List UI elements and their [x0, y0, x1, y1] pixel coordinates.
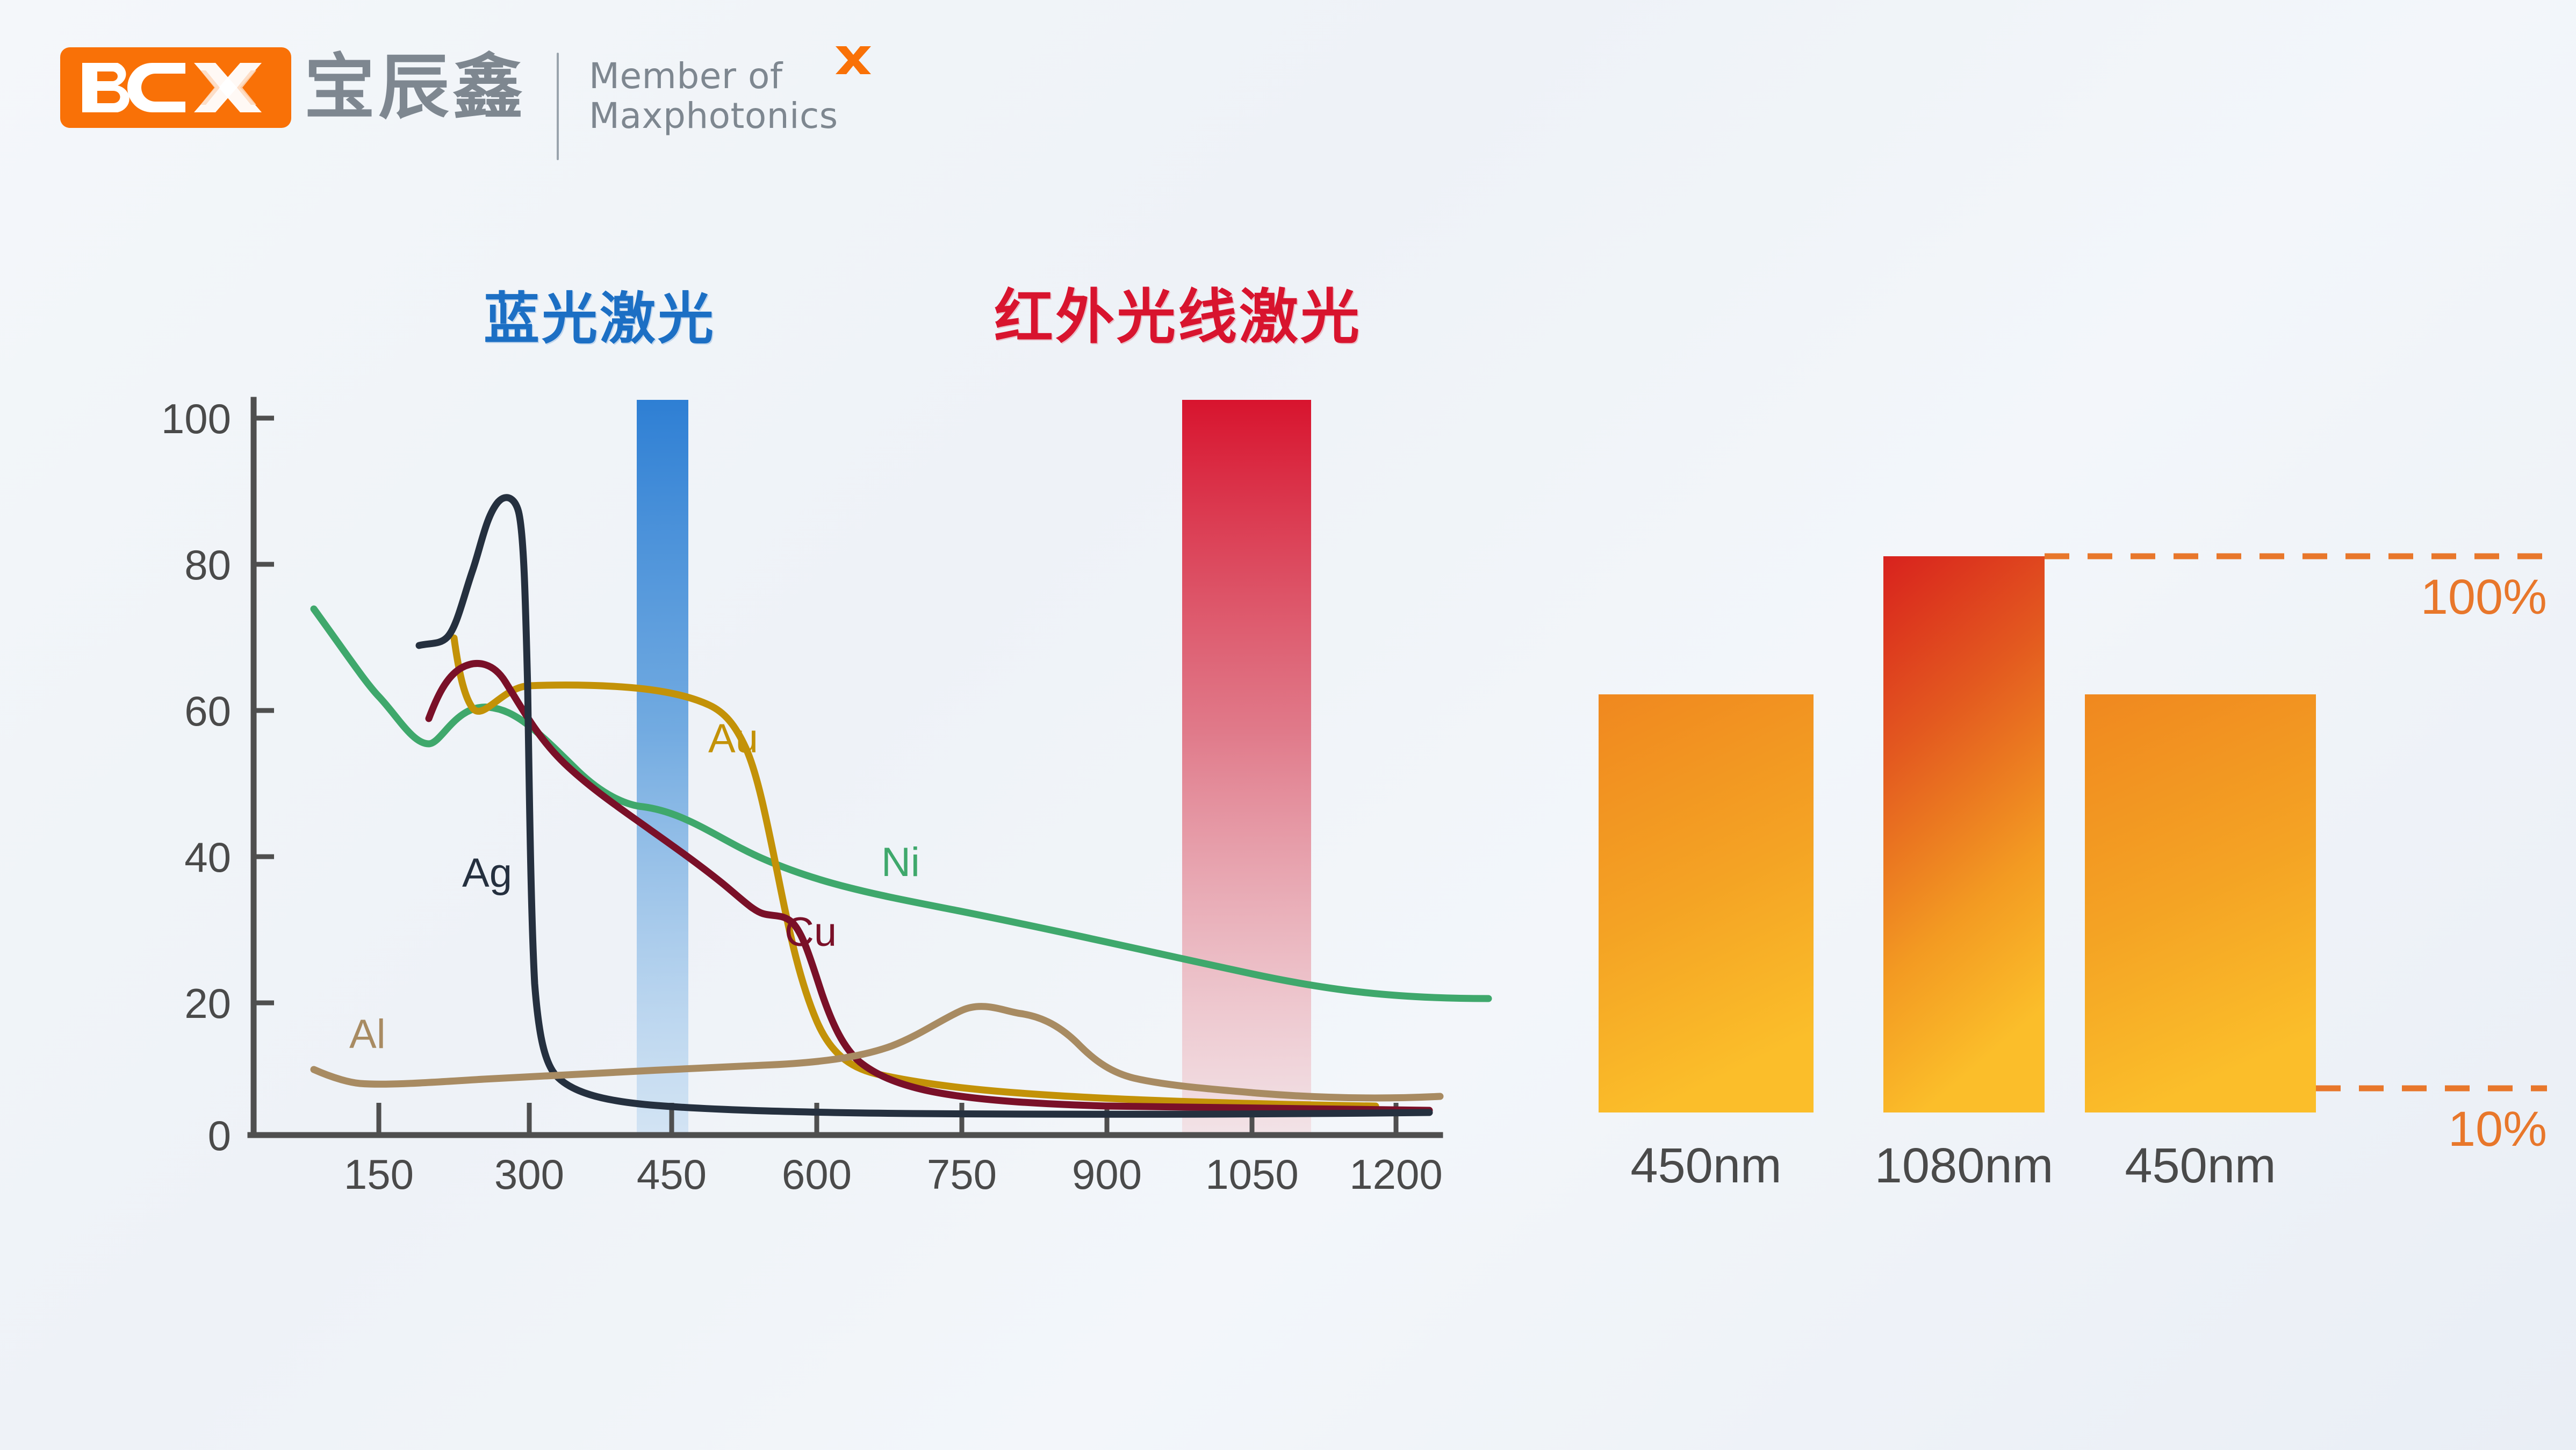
- bar-450nm-left: [1599, 694, 1814, 1112]
- bar-label-1080nm: 1080nm: [1875, 1138, 2053, 1193]
- bar-category-labels: 450nm 1080nm 450nm: [1630, 1138, 2276, 1193]
- label-10-percent: 10%: [2448, 1102, 2547, 1157]
- bar-1080nm: [1883, 556, 2045, 1112]
- reference-labels: 100% 10%: [2421, 570, 2547, 1157]
- bar-450nm-right: [2085, 694, 2316, 1112]
- label-100-percent: 100%: [2421, 570, 2547, 624]
- absorption-bar-chart: 100% 10% 450nm 1080nm 450nm: [0, 0, 2576, 1450]
- bar-label-450nm-left: 450nm: [1630, 1138, 1781, 1193]
- bar-label-450nm-right: 450nm: [2125, 1138, 2276, 1193]
